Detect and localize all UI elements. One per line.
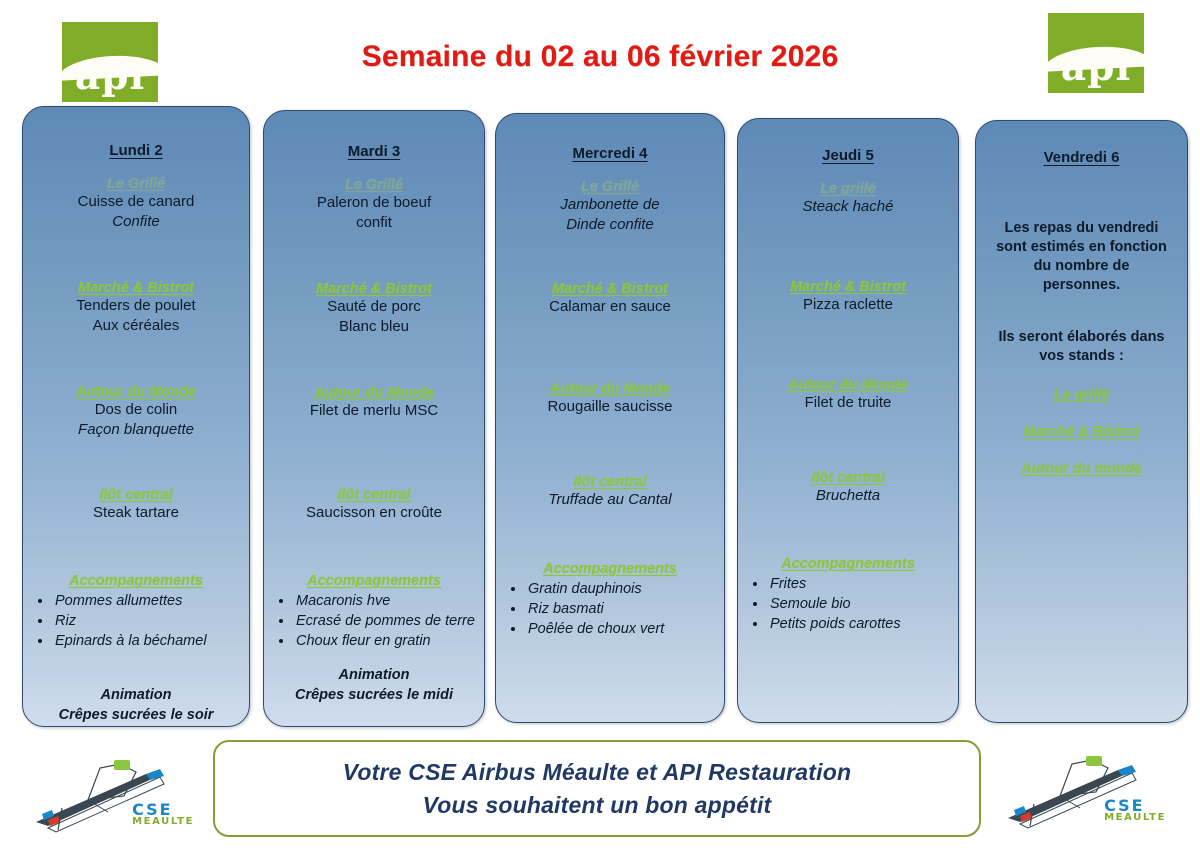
animation-text: Crêpes sucrées le midi <box>272 685 476 705</box>
dish: Confite <box>31 212 241 232</box>
accompagnements-heading: Accompagnements <box>746 556 950 572</box>
dish: Filet de truite <box>746 393 950 413</box>
stand-name: Marché & Bistrot <box>31 280 241 296</box>
list-item: Macaronis hve <box>294 591 476 611</box>
menu-section: Autour du Monde Filet de merlu MSC <box>272 385 476 421</box>
footer-message-box: Votre CSE Airbus Méaulte et API Restaura… <box>213 740 981 837</box>
dish: Bruchetta <box>746 486 950 506</box>
accompagnements-list: Macaronis hve Ecrasé de pommes de terre … <box>272 591 476 651</box>
menu-section: Autour du Monde Rougaille saucisse <box>504 381 716 417</box>
day-card-mardi: Mardi 3 Le Grillé Paleron de boeuf confi… <box>263 110 485 727</box>
stand-name: Autour du Monde <box>504 381 716 397</box>
menu-section: Autour du Monde Dos de colin Façon blanq… <box>31 384 241 440</box>
dish: Truffade au Cantal <box>504 490 716 510</box>
accompagnements-list: Gratin dauphinois Riz basmati Poêlée de … <box>504 579 716 639</box>
accompagnements-list: Frites Semoule bio Petits poids carottes <box>746 574 950 634</box>
accompagnements-section: Accompagnements Frites Semoule bio Petit… <box>746 556 950 634</box>
day-card-jeudi: Jeudi 5 Le grillé Steack haché Marché & … <box>737 118 959 723</box>
day-title: Mercredi 4 <box>504 145 716 162</box>
day-title: Vendredi 6 <box>984 149 1179 166</box>
friday-stand: Marché & Bistrot <box>984 424 1179 440</box>
animation-text: Crêpes sucrées le soir <box>31 705 241 725</box>
cse-logo-text: CSE MEAULTE <box>132 804 194 828</box>
stand-name: Autour du Monde <box>31 384 241 400</box>
cse-label: CSE <box>1104 800 1166 812</box>
day-card-mercredi: Mercredi 4 Le Grillé Jambonette de Dinde… <box>495 113 725 723</box>
day-title: Mardi 3 <box>272 143 476 160</box>
list-item: Semoule bio <box>768 594 950 614</box>
dish: Dos de colin <box>31 400 241 420</box>
list-item: Choux fleur en gratin <box>294 631 476 651</box>
day-title: Lundi 2 <box>31 142 241 159</box>
dish: Façon blanquette <box>31 420 241 440</box>
accompagnements-section: Accompagnements Gratin dauphinois Riz ba… <box>504 561 716 639</box>
dish: Tenders de poulet <box>31 296 241 316</box>
dish: Pizza raclette <box>746 295 950 315</box>
stand-name: Le Grillé <box>504 179 716 195</box>
stand-name: Marché & Bistrot <box>746 279 950 295</box>
page-title: Semaine du 02 au 06 février 2026 <box>0 40 1200 74</box>
list-item: Petits poids carottes <box>768 614 950 634</box>
dish: Aux céréales <box>31 316 241 336</box>
dish: Jambonette de <box>504 195 716 215</box>
animation-label: Animation <box>272 665 476 685</box>
stand-name: Autour du Monde <box>746 377 950 393</box>
menu-section: Marché & Bistrot Sauté de porc Blanc ble… <box>272 281 476 337</box>
cse-logo-text: CSE MEAULTE <box>1104 800 1166 824</box>
list-item: Pommes allumettes <box>53 591 241 611</box>
day-card-lundi: Lundi 2 Le Grillé Cuisse de canard Confi… <box>22 106 250 727</box>
dish: Sauté de porc <box>272 297 476 317</box>
accompagnements-section: Accompagnements Pommes allumettes Riz Ep… <box>31 573 241 651</box>
stand-name: Le grillé <box>746 181 950 197</box>
list-item: Epinards à la béchamel <box>53 631 241 651</box>
menu-section: Marché & Bistrot Pizza raclette <box>746 279 950 315</box>
list-item: Riz basmati <box>526 599 716 619</box>
stand-name: Le Grillé <box>31 176 241 192</box>
stand-name: Ilôt central <box>746 470 950 486</box>
cse-logo-right: CSE MEAULTE <box>1000 748 1170 833</box>
stand-name: Marché & Bistrot <box>272 281 476 297</box>
api-logo-right: api <box>1048 13 1144 93</box>
menu-section: Ilôt central Steak tartare <box>31 487 241 523</box>
day-card-vendredi: Vendredi 6 Les repas du vendredi sont es… <box>975 120 1188 723</box>
animation-label: Animation <box>31 685 241 705</box>
menu-section: Ilôt central Truffade au Cantal <box>504 474 716 510</box>
dish: Cuisse de canard <box>31 192 241 212</box>
footer-line-1: Votre CSE Airbus Méaulte et API Restaura… <box>343 756 852 789</box>
footer-line-2: Vous souhaitent un bon appétit <box>423 789 772 822</box>
menu-section: Le grillé Steack haché <box>746 181 950 217</box>
dish: Filet de merlu MSC <box>272 401 476 421</box>
friday-note-2: Ils seront élaborés dans vos stands : <box>984 328 1179 366</box>
dish: Calamar en sauce <box>504 297 716 317</box>
list-item: Gratin dauphinois <box>526 579 716 599</box>
menu-section: Le Grillé Cuisse de canard Confite <box>31 176 241 232</box>
stand-name: Ilôt central <box>31 487 241 503</box>
menu-section: Le Grillé Paleron de boeuf confit <box>272 177 476 233</box>
accompagnements-heading: Accompagnements <box>272 573 476 589</box>
friday-note-1: Les repas du vendredi sont estimés en fo… <box>984 219 1179 295</box>
stand-name: Ilôt central <box>504 474 716 490</box>
animation-section: Animation Crêpes sucrées le soir <box>31 685 241 725</box>
stand-name: Autour du Monde <box>272 385 476 401</box>
stand-name: Ilôt central <box>272 487 476 503</box>
menu-section: Marché & Bistrot Tenders de poulet Aux c… <box>31 280 241 336</box>
menu-section: Le Grillé Jambonette de Dinde confite <box>504 179 716 235</box>
cse-site-label: MEAULTE <box>1104 812 1166 824</box>
list-item: Riz <box>53 611 241 631</box>
list-item: Ecrasé de pommes de terre <box>294 611 476 631</box>
dish: Paleron de boeuf <box>272 193 476 213</box>
list-item: Poêlée de choux vert <box>526 619 716 639</box>
menu-section: Ilôt central Saucisson en croûte <box>272 487 476 523</box>
menu-section: Autour du Monde Filet de truite <box>746 377 950 413</box>
dish: Rougaille saucisse <box>504 397 716 417</box>
stand-name: Marché & Bistrot <box>504 281 716 297</box>
friday-stand: Le grillé <box>984 387 1179 403</box>
dish: Saucisson en croûte <box>272 503 476 523</box>
list-item: Frites <box>768 574 950 594</box>
accompagnements-heading: Accompagnements <box>31 573 241 589</box>
accompagnements-section: Accompagnements Macaronis hve Ecrasé de … <box>272 573 476 651</box>
animation-section: Animation Crêpes sucrées le midi <box>272 665 476 705</box>
dish: Steak tartare <box>31 503 241 523</box>
stand-name: Le Grillé <box>272 177 476 193</box>
day-title: Jeudi 5 <box>746 147 950 164</box>
dish: Blanc bleu <box>272 317 476 337</box>
menu-section: Ilôt central Bruchetta <box>746 470 950 506</box>
accompagnements-list: Pommes allumettes Riz Epinards à la béch… <box>31 591 241 651</box>
cse-site-label: MEAULTE <box>132 816 194 828</box>
cse-label: CSE <box>132 804 194 816</box>
cse-logo-left: CSE MEAULTE <box>28 752 198 837</box>
dish: Steack haché <box>746 197 950 217</box>
api-logo-text: api <box>1048 47 1144 87</box>
dish: Dinde confite <box>504 215 716 235</box>
dish: confit <box>272 213 476 233</box>
accompagnements-heading: Accompagnements <box>504 561 716 577</box>
friday-stand: Autour du monde <box>984 461 1179 477</box>
menu-section: Marché & Bistrot Calamar en sauce <box>504 281 716 317</box>
